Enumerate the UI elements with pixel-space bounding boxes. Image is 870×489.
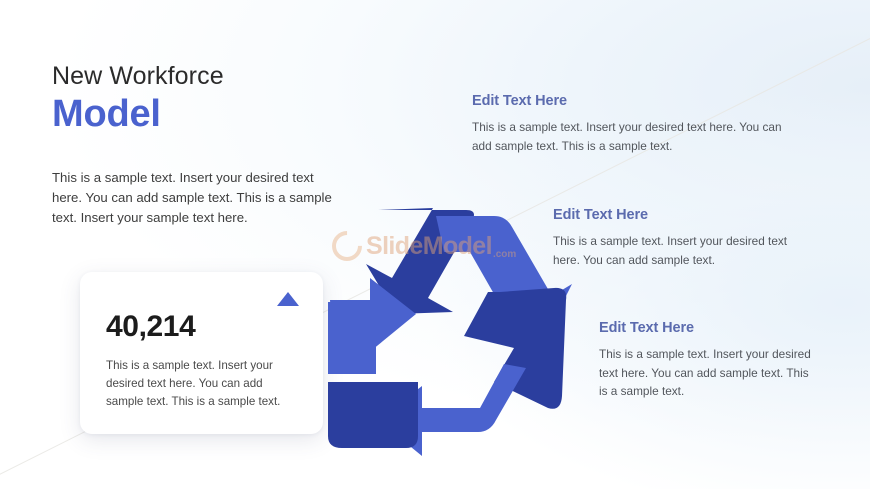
text-block-2-body: This is a sample text. Insert your desir… [553, 232, 811, 269]
text-block-3-body: This is a sample text. Insert your desir… [599, 345, 815, 401]
text-block-3[interactable]: Edit Text Here This is a sample text. In… [599, 320, 815, 401]
text-block-1-heading: Edit Text Here [472, 93, 792, 109]
recycle-arrow-6 [328, 382, 418, 448]
intro-paragraph: This is a sample text. Insert your desir… [52, 168, 334, 228]
text-block-2[interactable]: Edit Text Here This is a sample text. In… [553, 207, 811, 269]
slide-canvas: New Workforce Model This is a sample tex… [0, 0, 870, 489]
stat-card[interactable]: 40,214 This is a sample text. Insert you… [80, 272, 323, 434]
recycle-arrow-3 [464, 288, 566, 409]
title-line-primary: New Workforce [52, 62, 382, 91]
text-block-1-body: This is a sample text. Insert your desir… [472, 118, 792, 155]
stat-description: This is a sample text. Insert your desir… [106, 357, 302, 411]
text-block-3-heading: Edit Text Here [599, 320, 815, 336]
page-title: New Workforce Model [52, 62, 382, 135]
text-block-1[interactable]: Edit Text Here This is a sample text. In… [472, 93, 792, 155]
title-line-accent: Model [52, 93, 382, 136]
recycle-icon [322, 196, 584, 458]
stat-value: 40,214 [106, 310, 195, 344]
recycle-arrow-7 [328, 302, 376, 374]
triangle-up-icon [277, 292, 299, 306]
text-block-2-heading: Edit Text Here [553, 207, 811, 223]
